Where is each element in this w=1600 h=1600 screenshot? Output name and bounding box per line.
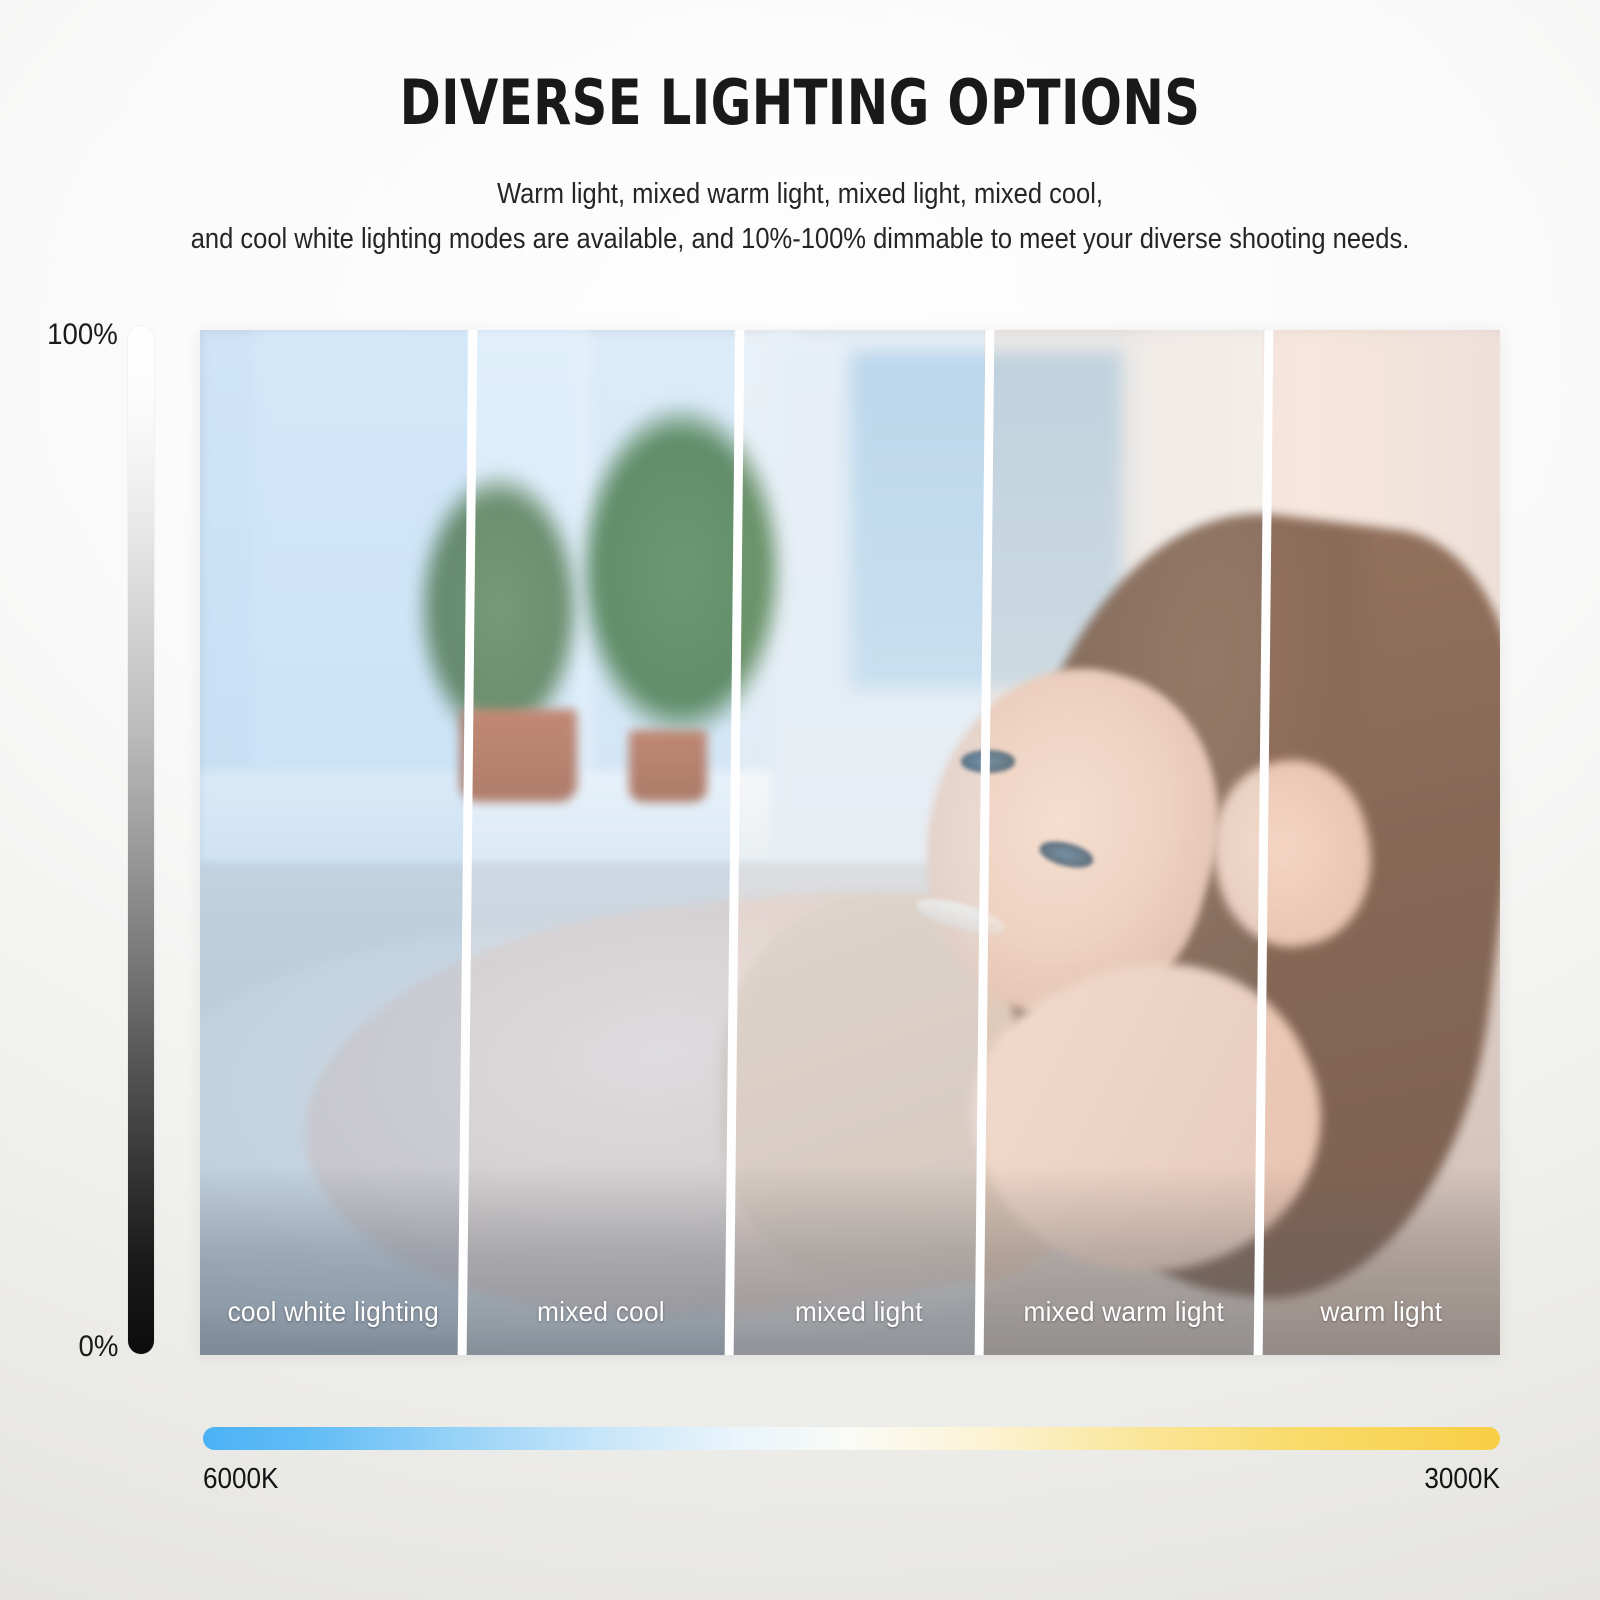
dimming-scale: 100% 0% bbox=[128, 326, 154, 1354]
dimming-min-label: 0% bbox=[78, 1330, 118, 1364]
color-temperature-bar bbox=[203, 1427, 1500, 1450]
dimming-max-label: 100% bbox=[47, 318, 118, 352]
kelvin-warm-label: 3000K bbox=[1425, 1463, 1500, 1496]
lighting-slice[interactable]: mixed light bbox=[734, 330, 984, 1355]
page-subtitle: Warm light, mixed warm light, mixed ligh… bbox=[96, 172, 1504, 262]
lighting-slice[interactable]: cool white lighting bbox=[200, 330, 467, 1355]
lighting-slice[interactable]: mixed warm light bbox=[984, 330, 1264, 1355]
lighting-comparison-board: cool white lightingmixed coolmixed light… bbox=[200, 330, 1500, 1355]
slice-tint-highlight bbox=[1263, 330, 1500, 1355]
lighting-slice[interactable]: warm light bbox=[1263, 330, 1500, 1355]
slice-tint-highlight bbox=[467, 330, 735, 1355]
lighting-slices: cool white lightingmixed coolmixed light… bbox=[200, 330, 1500, 1355]
subtitle-line-2: and cool white lighting modes are availa… bbox=[96, 217, 1504, 262]
infographic-page: DIVERSE LIGHTING OPTIONS Warm light, mix… bbox=[0, 0, 1600, 1600]
slice-tint-highlight bbox=[734, 330, 984, 1355]
slice-tint-highlight bbox=[984, 330, 1264, 1355]
page-title: DIVERSE LIGHTING OPTIONS bbox=[160, 72, 1440, 134]
slice-tint-highlight bbox=[200, 330, 467, 1355]
lighting-slice[interactable]: mixed cool bbox=[467, 330, 735, 1355]
dimming-gradient-bar bbox=[128, 326, 154, 1354]
subtitle-line-1: Warm light, mixed warm light, mixed ligh… bbox=[96, 172, 1504, 217]
kelvin-cool-label: 6000K bbox=[203, 1463, 278, 1496]
